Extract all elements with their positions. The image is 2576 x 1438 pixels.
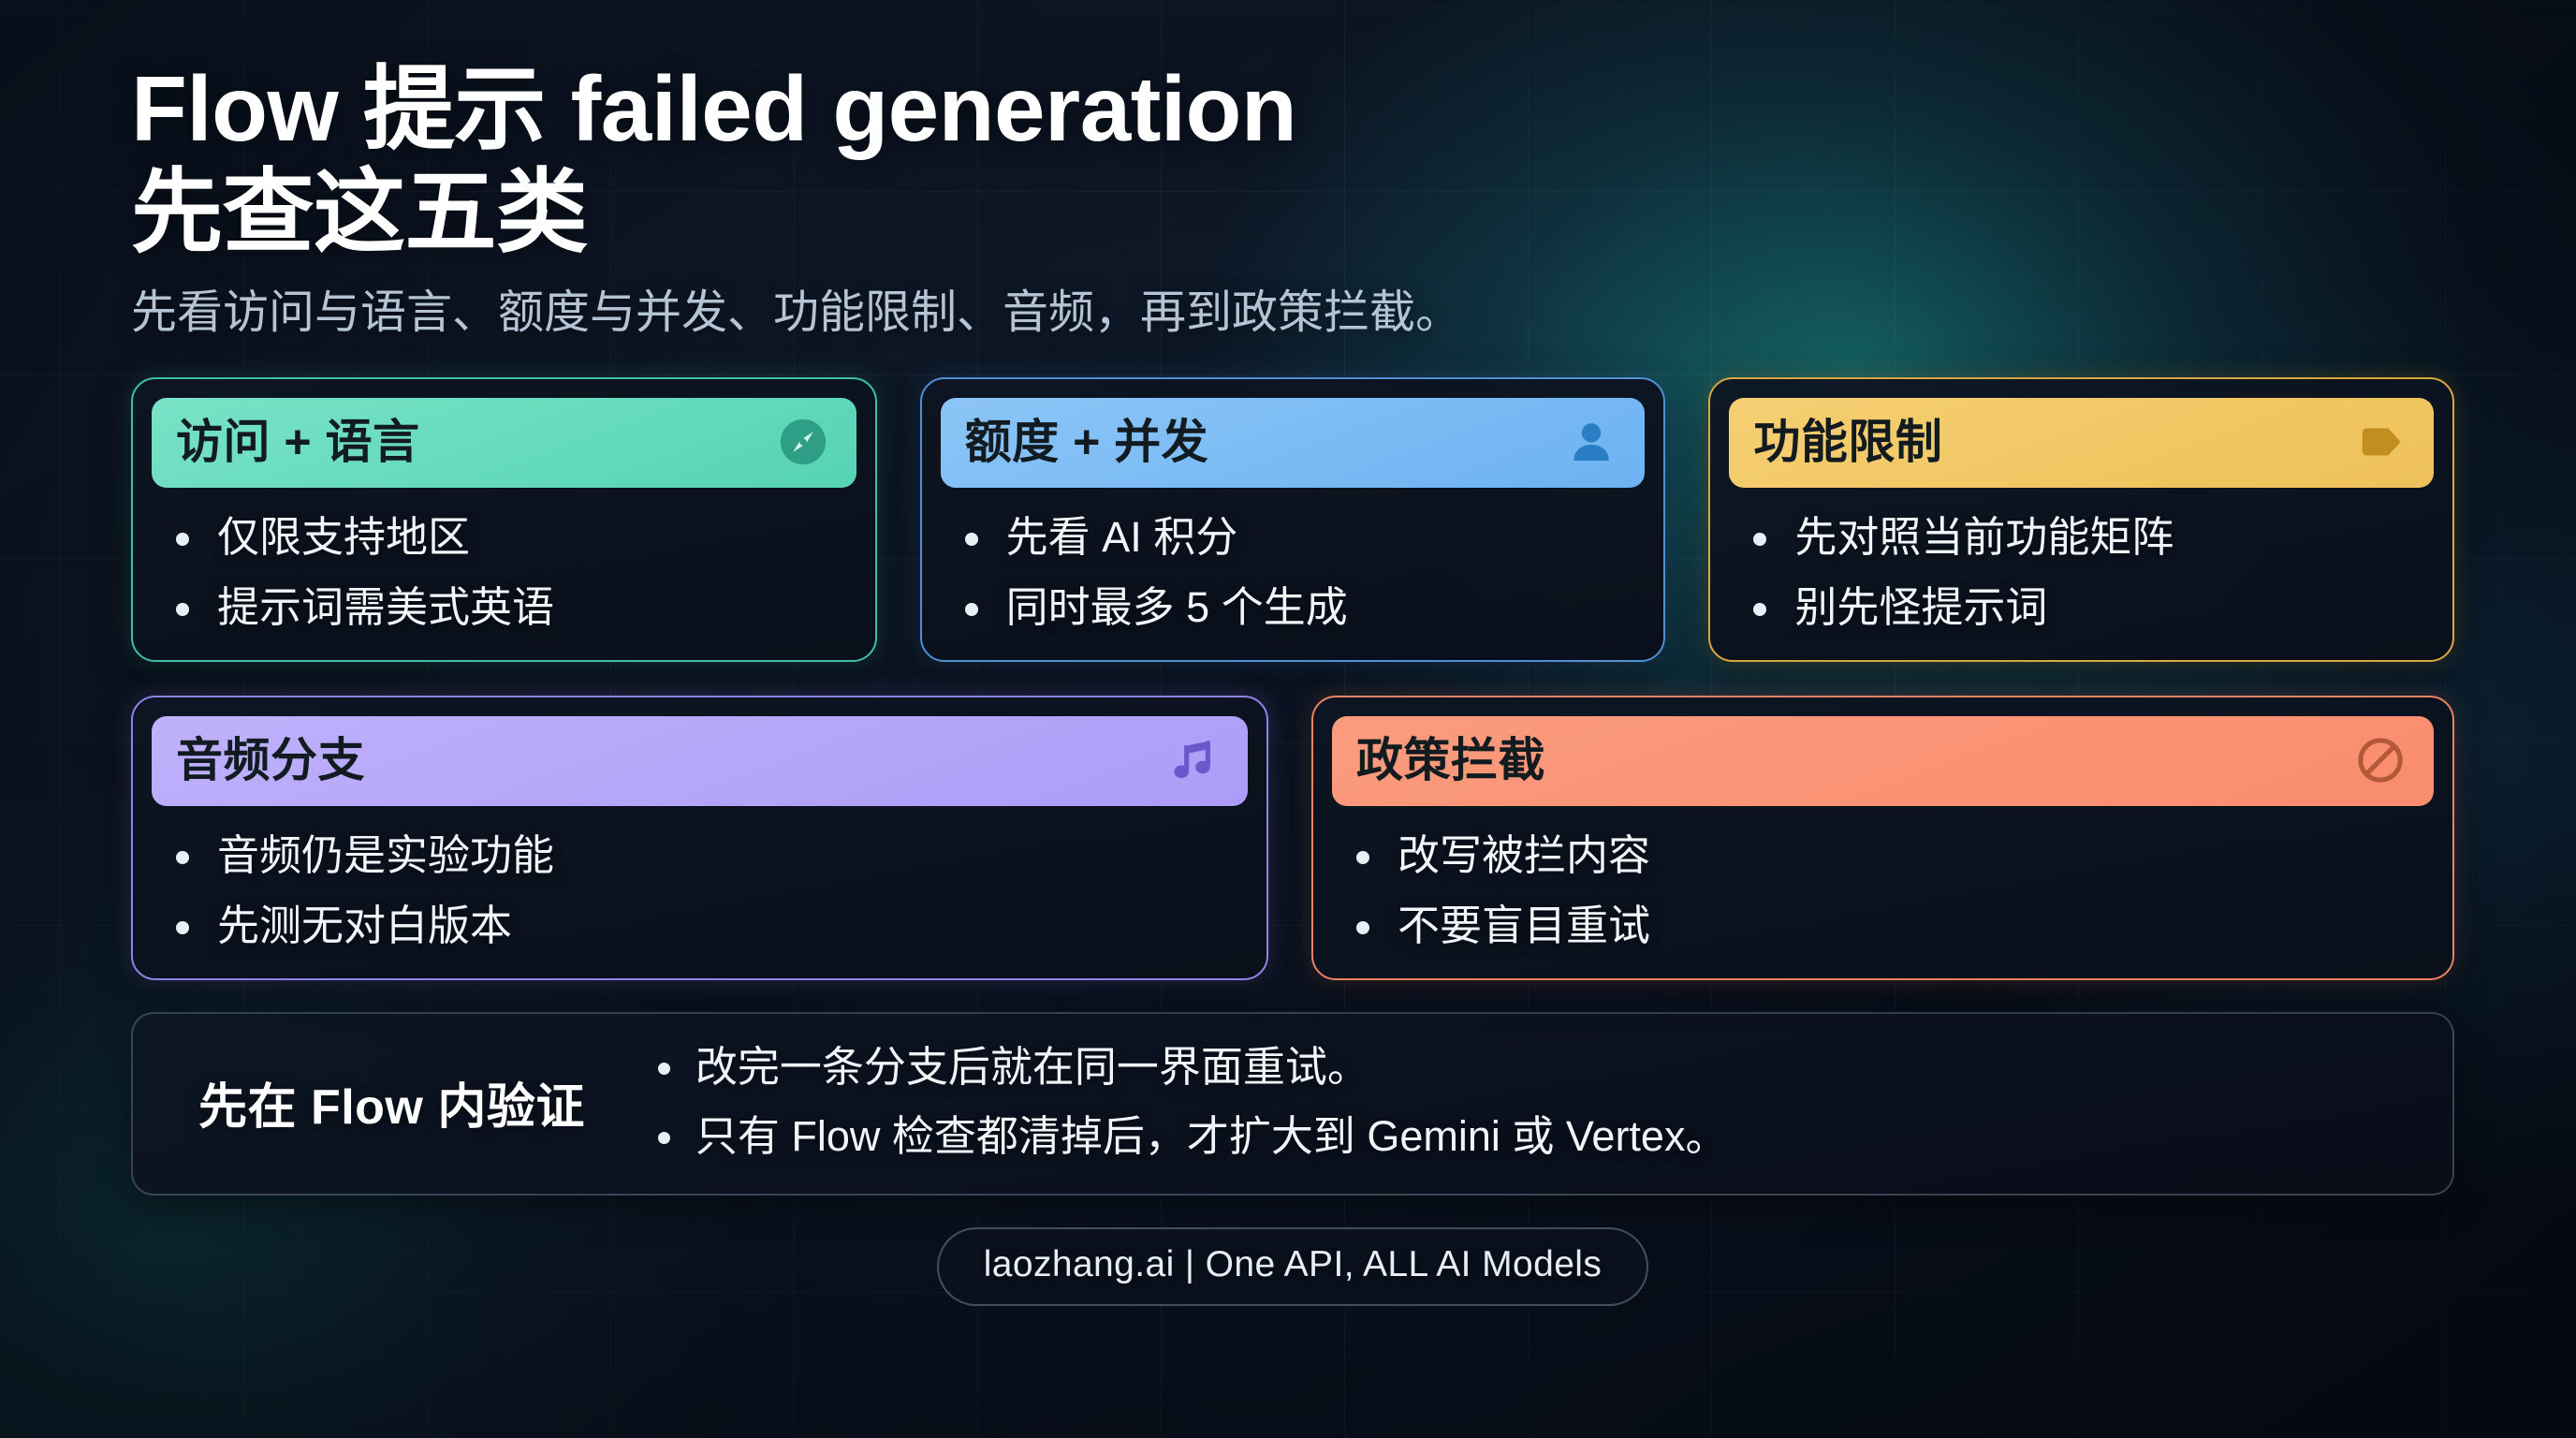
person-icon <box>1562 413 1620 471</box>
list-item: 提示词需美式英语 <box>165 582 856 632</box>
list-item: 先对照当前功能矩阵 <box>1742 512 2434 562</box>
card-header-audio-branch: 音频分支 <box>152 716 1248 806</box>
list-item: 不要盲目重试 <box>1345 901 2434 950</box>
list-item: 同时最多 5 个生成 <box>954 582 1646 632</box>
list-item: 先看 AI 积分 <box>954 512 1646 562</box>
list-item: 音频仍是实验功能 <box>165 830 1248 880</box>
compass-icon <box>774 413 832 471</box>
card-title-feature-limits: 功能限制 <box>1753 417 1942 467</box>
card-title-access-language: 访问 + 语言 <box>176 417 419 467</box>
infographic-canvas: Flow 提示 failed generation 先查这五类 先看访问与语言、… <box>0 0 2576 1438</box>
no-entry-icon <box>2351 731 2409 789</box>
card-header-quota-concurrency: 额度 + 并发 <box>941 398 1646 488</box>
card-header-feature-limits: 功能限制 <box>1729 398 2434 488</box>
card-bullets-policy-block: 改写被拦内容 不要盲目重试 <box>1345 830 2434 950</box>
card-bullets-quota-concurrency: 先看 AI 积分 同时最多 5 个生成 <box>954 512 1646 632</box>
card-policy-block[interactable]: 政策拦截 改写被拦内容 不要盲目重试 <box>1311 696 2454 980</box>
card-header-access-language: 访问 + 语言 <box>152 398 856 488</box>
card-access-language[interactable]: 访问 + 语言 仅限支持地区 提示词需美式英语 <box>131 377 877 662</box>
page-subtitle: 先看访问与语言、额度与并发、功能限制、音频，再到政策拦截。 <box>131 285 2454 342</box>
music-note-icon <box>1165 731 1223 789</box>
verify-panel-list: 改完一条分支后就在同一界面重试。 只有 Flow 检查都清掉后，才扩大到 Gem… <box>651 1042 2402 1162</box>
card-audio-branch[interactable]: 音频分支 音频仍是实验功能 先测无对白版本 <box>131 696 1268 980</box>
page-title-line-2: 先查这五类 <box>131 161 2454 264</box>
card-bullets-audio-branch: 音频仍是实验功能 先测无对白版本 <box>165 830 1248 950</box>
brand-badge: laozhang.ai | One API, ALL AI Models <box>937 1227 1649 1306</box>
card-row-primary: 访问 + 语言 仅限支持地区 提示词需美式英语 <box>131 377 2454 662</box>
infographic-content: Flow 提示 failed generation 先查这五类 先看访问与语言、… <box>0 0 2576 1438</box>
list-item: 改完一条分支后就在同一界面重试。 <box>651 1042 2402 1093</box>
list-item: 改写被拦内容 <box>1345 830 2434 880</box>
list-item: 只有 Flow 检查都清掉后，才扩大到 Gemini 或 Vertex。 <box>651 1111 2402 1162</box>
card-feature-limits[interactable]: 功能限制 先对照当前功能矩阵 别先怪提示词 <box>1708 377 2454 662</box>
card-title-quota-concurrency: 额度 + 并发 <box>965 417 1208 467</box>
card-header-policy-block: 政策拦截 <box>1332 716 2434 806</box>
card-title-policy-block: 政策拦截 <box>1356 735 1545 785</box>
list-item: 先测无对白版本 <box>165 901 1248 950</box>
page-title: Flow 提示 failed generation 先查这五类 <box>131 58 2454 264</box>
verify-panel-label: 先在 Flow 内验证 <box>183 1067 585 1137</box>
card-bullets-feature-limits: 先对照当前功能矩阵 别先怪提示词 <box>1742 512 2434 632</box>
tag-icon <box>2351 413 2409 471</box>
list-item: 仅限支持地区 <box>165 512 856 562</box>
card-title-audio-branch: 音频分支 <box>176 735 365 785</box>
card-bullets-access-language: 仅限支持地区 提示词需美式英语 <box>165 512 856 632</box>
card-quota-concurrency[interactable]: 额度 + 并发 先看 AI 积分 同时最多 5 个生成 <box>920 377 1666 662</box>
card-row-secondary: 音频分支 音频仍是实验功能 先测无对白版本 <box>131 696 2454 980</box>
verify-panel: 先在 Flow 内验证 改完一条分支后就在同一界面重试。 只有 Flow 检查都… <box>131 1012 2454 1196</box>
list-item: 别先怪提示词 <box>1742 582 2434 632</box>
page-title-line-1: Flow 提示 failed generation <box>131 57 1296 160</box>
brand-badge-row: laozhang.ai | One API, ALL AI Models <box>131 1227 2454 1306</box>
